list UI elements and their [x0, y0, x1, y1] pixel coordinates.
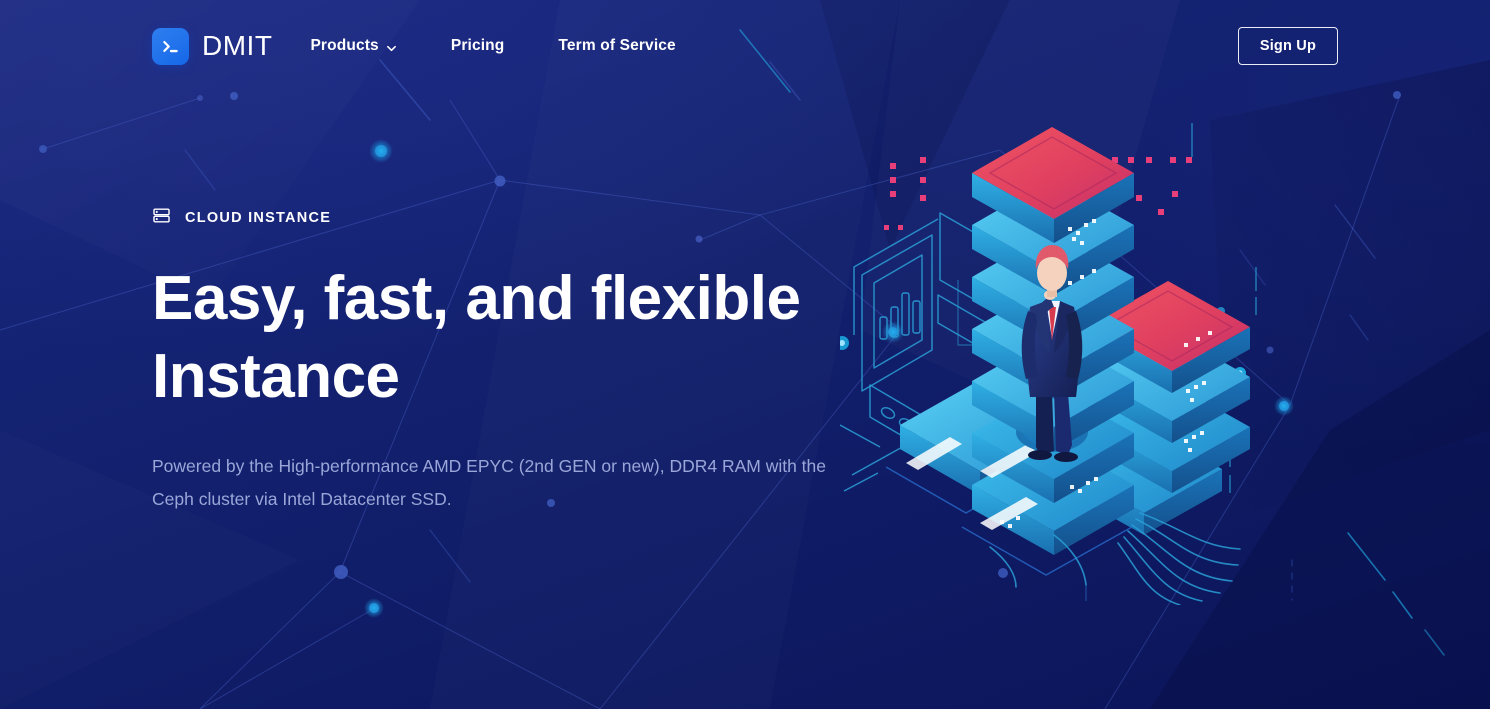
brand-logo-link[interactable]: DMIT — [152, 28, 272, 65]
nav-item-pricing[interactable]: Pricing — [451, 29, 505, 63]
nav-item-pricing-label: Pricing — [451, 37, 505, 55]
terminal-prompt-icon — [152, 28, 189, 65]
sign-up-button[interactable]: Sign Up — [1238, 27, 1338, 65]
chevron-down-icon — [386, 41, 397, 52]
hero-eyebrow-label: CLOUD INSTANCE — [185, 210, 331, 226]
hero-copy: CLOUD INSTANCE Easy, fast, and flexible … — [152, 206, 852, 515]
main-navbar: DMIT Products Pricing Term of Service Si… — [0, 0, 1490, 92]
nav-item-products[interactable]: Products — [310, 29, 396, 63]
nav-links: Products Pricing Term of Service — [310, 29, 675, 63]
isometric-server-stack-illustration — [840, 95, 1360, 605]
hero-section: DMIT Products Pricing Term of Service Si… — [0, 0, 1490, 709]
hero-eyebrow: CLOUD INSTANCE — [152, 206, 852, 230]
hero-subtitle: Powered by the High-performance AMD EPYC… — [152, 450, 832, 515]
brand-name: DMIT — [202, 32, 272, 60]
nav-item-term-of-service-label: Term of Service — [558, 37, 675, 55]
nav-item-term-of-service[interactable]: Term of Service — [558, 29, 675, 63]
server-rack-icon — [152, 206, 171, 230]
page-title: Easy, fast, and flexible Instance — [152, 260, 852, 416]
nav-item-products-label: Products — [310, 37, 378, 55]
